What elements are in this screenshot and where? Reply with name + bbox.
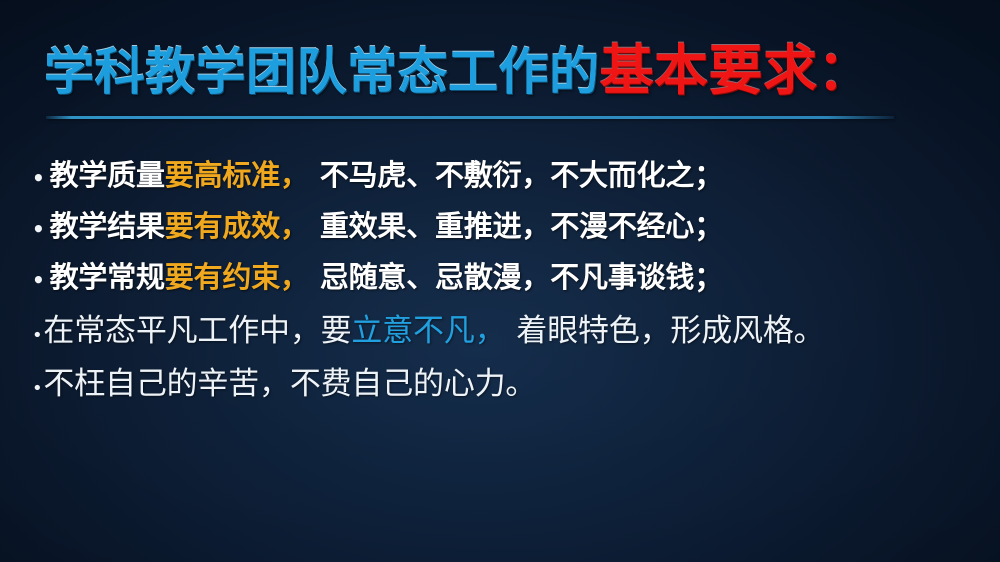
presentation-slide: 学科教学团队常态工作的基本要求： • 教学质量要高标准，不马虎、不敷衍，不大而化… [0,0,1000,562]
bullet-marker: • [32,270,45,290]
bullet-marker: • [32,380,42,398]
bullet-line-3: • 教学常规要有约束，忌随意、忌散漫，不凡事谈钱； [32,254,972,305]
line-3-segment-3: 忌随意、忌散漫，不凡事谈钱； [320,254,723,296]
title-highlight-text: 基本要求： [600,39,873,102]
title-divider-line [46,116,894,119]
line-3-segment-1: 教学常规 [50,254,165,296]
title-main-text: 学科教学团队常态工作的 [44,43,600,101]
bullet-line-5: • 不枉自己的辛苦，不费自己的心力。 [32,358,972,411]
bullet-marker: • [32,219,45,239]
line-4-segment-1: 在常态平凡工作中，要 [43,305,351,350]
line-1-segment-3: 不马虎、不敷衍，不大而化之； [320,152,723,194]
line-1-segment-2-highlight: 要高标准， [165,152,309,194]
line-5-segment-1: 不枉自己的辛苦，不费自己的心力。 [43,358,536,403]
line-2-segment-2-highlight: 要有成效， [165,203,309,245]
line-4-segment-3: 着眼特色，形成风格。 [516,305,824,350]
line-1-segment-1: 教学质量 [50,152,165,194]
line-3-segment-2-highlight: 要有约束， [165,254,309,296]
slide-title: 学科教学团队常态工作的基本要求： [44,38,964,106]
bullet-line-2: • 教学结果要有成效，重效果、重推进，不漫不经心； [32,203,972,254]
bullet-line-4: • 在常态平凡工作中，要立意不凡，着眼特色，形成风格。 [32,305,972,358]
line-2-segment-3: 重效果、重推进，不漫不经心； [320,203,723,245]
bullet-marker: • [32,168,45,188]
line-2-segment-1: 教学结果 [50,203,165,245]
line-4-segment-2-highlight: 立意不凡， [351,305,505,350]
slide-body: • 教学质量要高标准，不马虎、不敷衍，不大而化之； • 教学结果要有成效，重效果… [32,152,972,411]
bullet-line-1: • 教学质量要高标准，不马虎、不敷衍，不大而化之； [32,152,972,203]
bullet-marker: • [32,327,42,345]
